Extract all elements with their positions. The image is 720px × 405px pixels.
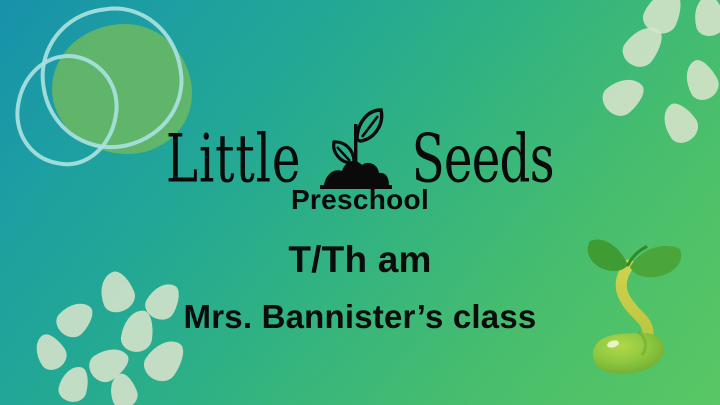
class-session-label: T/Th am (288, 239, 431, 281)
little-seeds-logo: Little (151, 104, 570, 216)
logo-word-seeds: Seeds (412, 129, 554, 188)
logo-wordmark: Little (151, 104, 570, 188)
logo-word-little: Little (166, 129, 302, 188)
banner-content: Little (0, 0, 720, 405)
teacher-class-label: Mrs. Bannister’s class (184, 298, 537, 336)
class-banner: Little (0, 0, 720, 405)
sprout-in-soil-icon (318, 108, 394, 192)
